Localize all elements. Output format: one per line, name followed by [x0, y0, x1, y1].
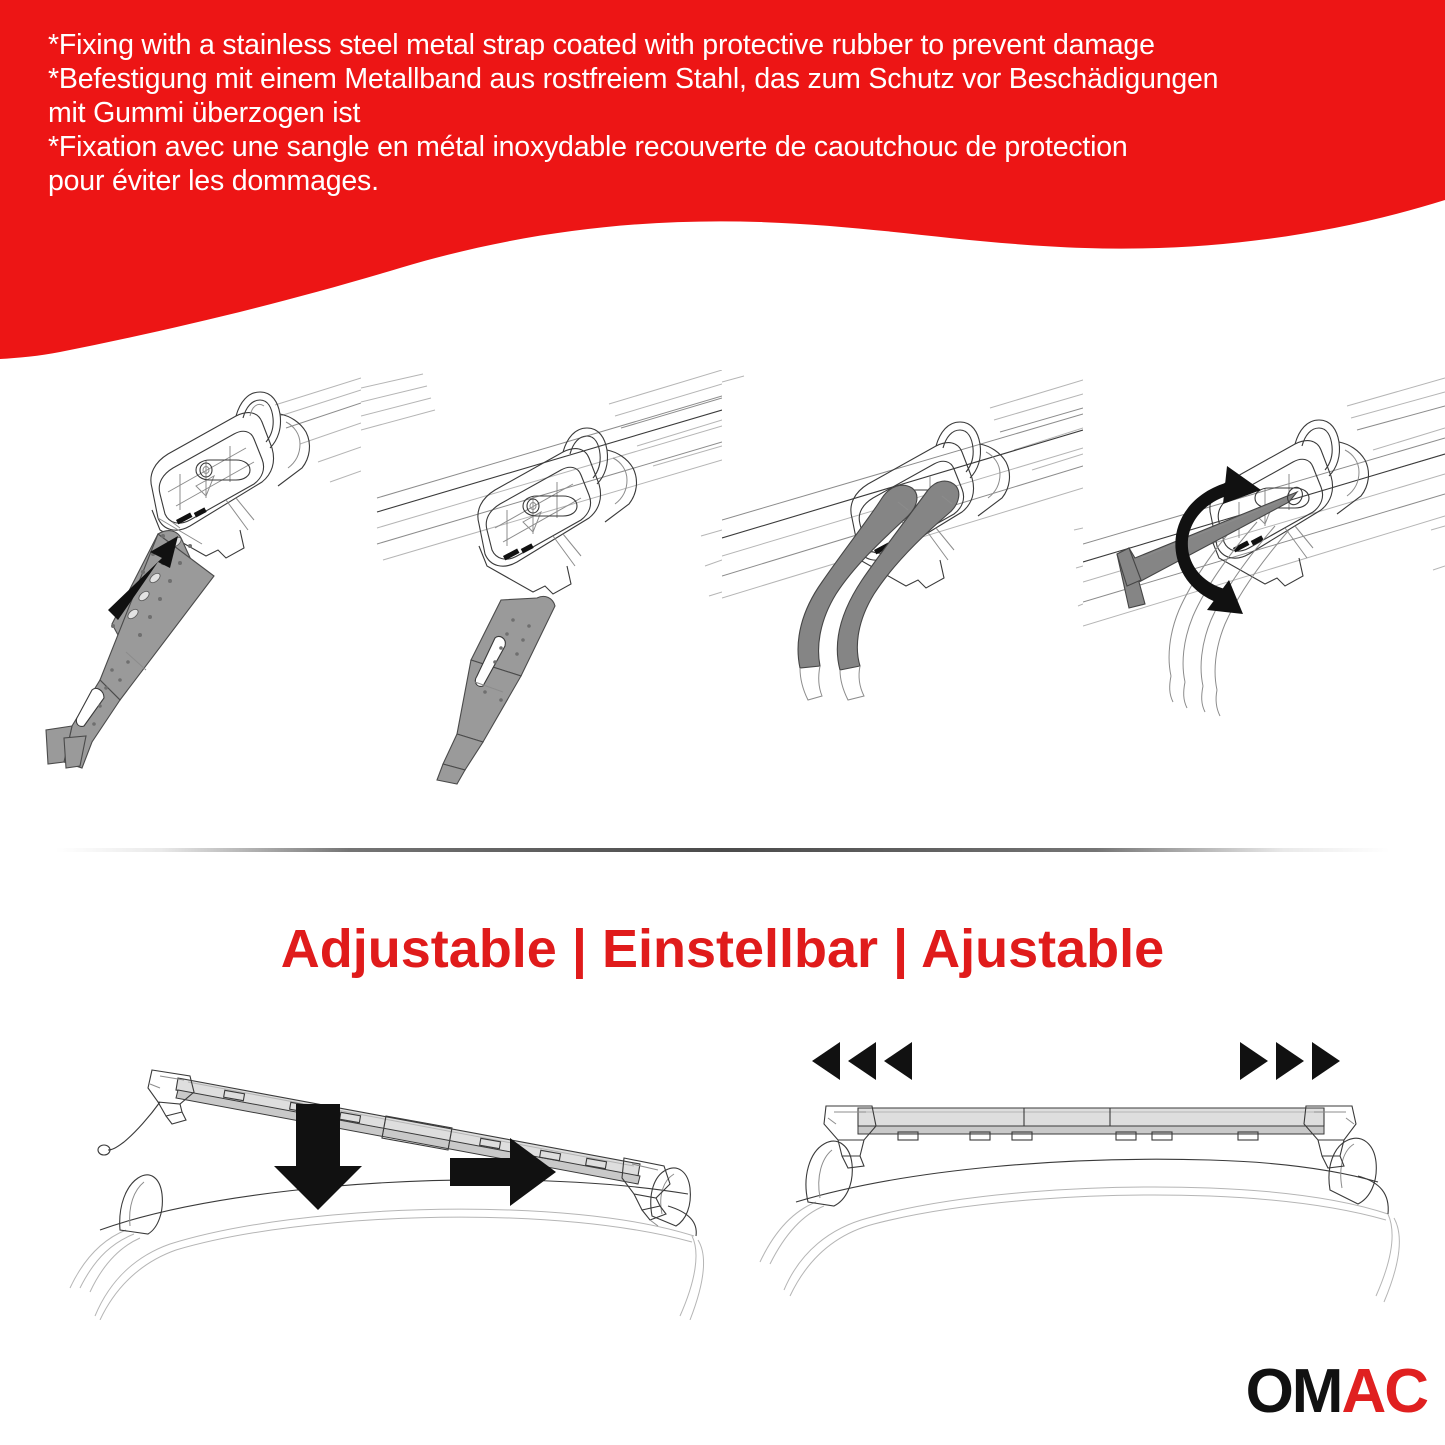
omac-logo: OMAC — [1246, 1361, 1427, 1423]
step-2-strap-under-rail — [361, 370, 722, 820]
logo-text-red: AC — [1341, 1357, 1427, 1426]
figure-position-crossbar — [40, 1030, 730, 1320]
assembly-steps — [0, 370, 1445, 820]
metal-strap-2 — [437, 596, 555, 784]
roof-rail-1 — [275, 378, 361, 482]
figure-width-adjust — [740, 1030, 1420, 1320]
metal-strap-1 — [46, 531, 214, 768]
car-roof-outline-left — [70, 1168, 704, 1320]
arrows-left-triple-icon — [812, 1042, 912, 1080]
roof-rail-2 — [361, 370, 722, 596]
rack-foot-clamp-2 — [478, 428, 637, 594]
crossbar-right — [824, 1106, 1356, 1168]
crossbar-left — [98, 1070, 670, 1226]
car-roof-outline-right — [760, 1138, 1399, 1302]
section-title: Adjustable | Einstellbar | Ajustable — [0, 918, 1445, 980]
wrapped-strap-3 — [798, 481, 959, 700]
arrows-right-triple-icon — [1240, 1042, 1340, 1080]
product-infographic-page: *Fixing with a stainless steel metal str… — [0, 0, 1445, 1445]
banner-text: *Fixing with a stainless steel metal str… — [48, 28, 1418, 198]
section-divider — [55, 848, 1390, 852]
step-3-strap-wrapped — [722, 370, 1083, 820]
step-4-tighten-allen-key — [1083, 370, 1444, 820]
logo-text-dark: OM — [1246, 1357, 1342, 1426]
bottom-figures — [0, 1030, 1445, 1320]
red-banner: *Fixing with a stainless steel metal str… — [0, 0, 1445, 380]
step-1-insert-strap — [0, 370, 361, 820]
